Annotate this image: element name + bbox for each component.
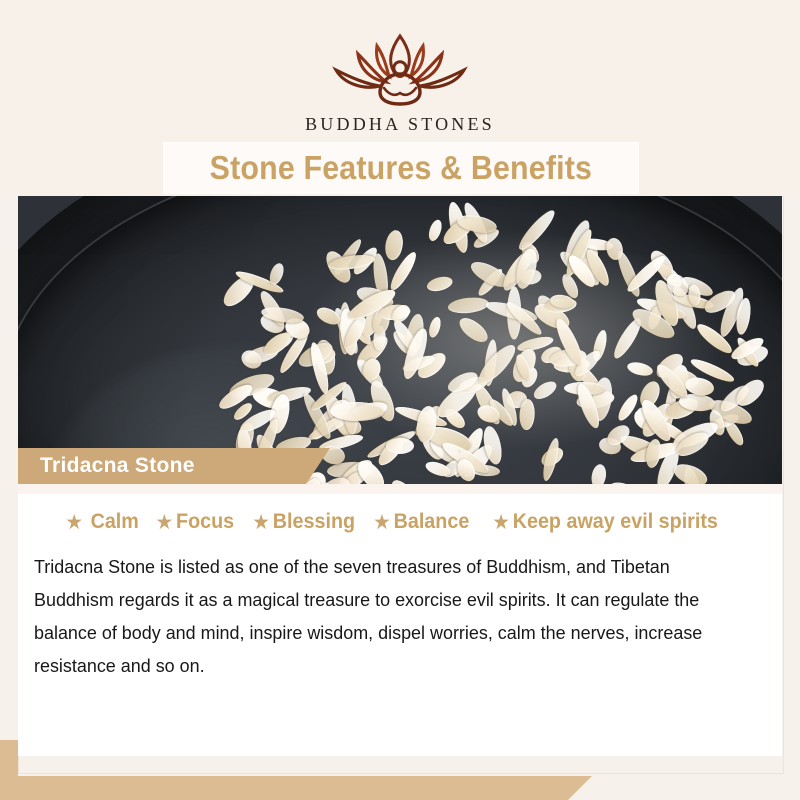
feature-label: Blessing <box>273 510 355 534</box>
stone-chip <box>426 218 444 243</box>
feature-item: ★Blessing <box>252 510 355 534</box>
feature-label: Calm <box>91 510 139 534</box>
stone-name-tag: Tridacna Stone <box>18 448 330 484</box>
star-icon: ★ <box>65 512 83 533</box>
brand-name: BUDDHA STONES <box>305 114 495 135</box>
content-panel: ★Calm★Focus★Blessing★Balance★Keep away e… <box>18 484 782 756</box>
stone-photo <box>18 196 782 484</box>
page-title: Stone Features & Benefits <box>210 149 593 187</box>
stone-chip <box>456 314 492 347</box>
bottom-left-edge-band <box>0 740 18 800</box>
stone-pile <box>186 204 782 484</box>
feature-label: Focus <box>176 510 234 534</box>
title-banner: Stone Features & Benefits <box>164 143 638 193</box>
stone-name-label: Tridacna Stone <box>40 454 195 478</box>
feature-item: ★Calm <box>65 510 138 534</box>
photo-content <box>18 196 782 484</box>
bottom-corner-band <box>0 776 800 800</box>
stone-chip <box>383 229 404 262</box>
stone-chip <box>519 399 535 430</box>
stone-chip <box>531 379 559 403</box>
stone-chip <box>386 476 429 484</box>
feature-list: ★Calm★Focus★Blessing★Balance★Keep away e… <box>18 510 782 534</box>
stone-description: Tridacna Stone is listed as one of the s… <box>34 550 748 682</box>
star-icon: ★ <box>252 512 270 533</box>
stone-chip <box>626 360 654 378</box>
stone-chip <box>427 316 443 339</box>
stone-chip <box>330 402 384 421</box>
stone-chip <box>268 262 286 286</box>
feature-item: ★Keep away evil spirits <box>492 510 718 534</box>
stone-chip <box>386 438 414 454</box>
star-icon: ★ <box>373 512 391 533</box>
feature-label: Balance <box>394 510 470 534</box>
star-icon: ★ <box>492 512 510 533</box>
header: BUDDHA STONES Stone Features & Benefits <box>0 0 800 196</box>
feature-item: ★Focus <box>156 510 235 534</box>
feature-label: Keep away evil spirits <box>512 510 717 534</box>
poster-page: BUDDHA STONES Stone Features & Benefits … <box>0 0 800 800</box>
lotus-meditation-icon <box>320 26 480 108</box>
stone-chip <box>447 296 489 315</box>
feature-item: ★Balance <box>373 510 469 534</box>
stone-chip <box>590 463 608 484</box>
stone-chip <box>515 207 559 254</box>
stone-chip <box>513 246 541 290</box>
brand-logo: BUDDHA STONES <box>0 26 800 135</box>
star-icon: ★ <box>156 512 174 533</box>
stone-chip <box>426 274 454 293</box>
panel-top-divider <box>18 484 782 494</box>
